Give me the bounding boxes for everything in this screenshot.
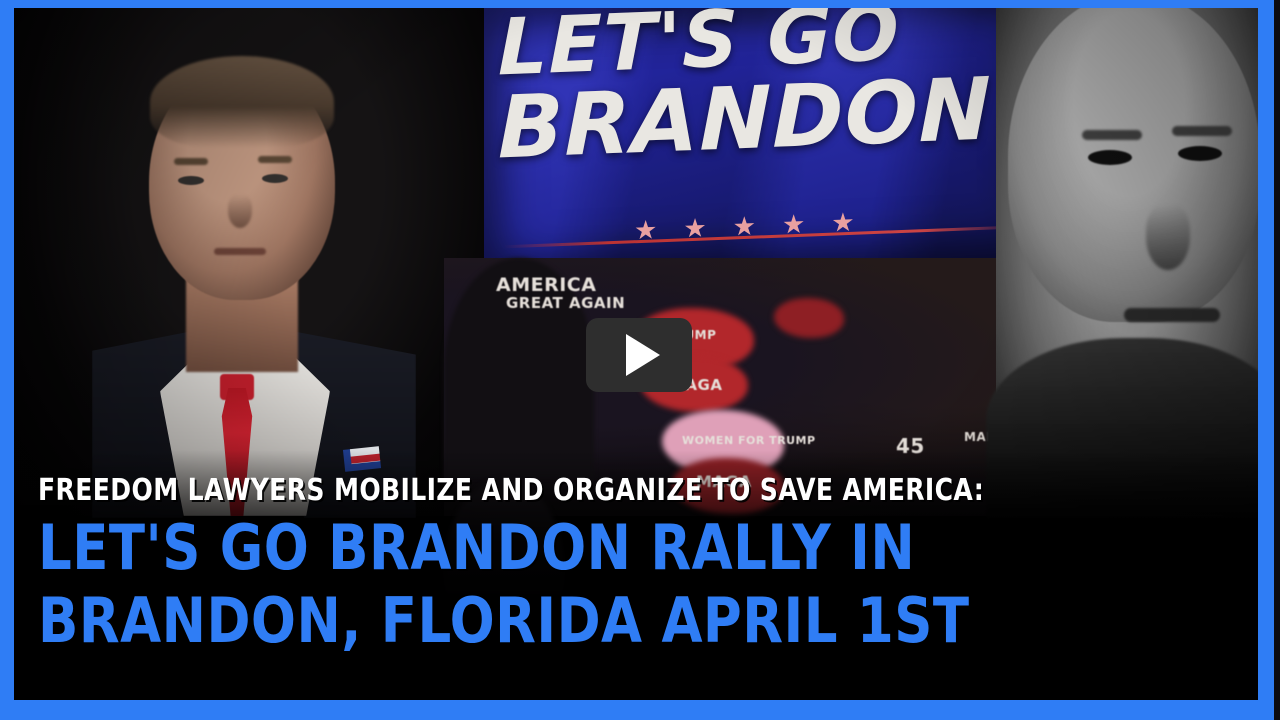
star-icon: ★: [634, 216, 657, 243]
mouth: [214, 248, 266, 255]
video-stage[interactable]: LET'S GO BRANDON ★ ★ ★ ★ ★: [14, 8, 1258, 700]
play-button[interactable]: [586, 318, 692, 392]
banner-line-2: BRANDON: [498, 68, 1058, 169]
eyebrow-right: [1172, 126, 1232, 136]
star-icon: ★: [683, 214, 706, 241]
eye-right: [262, 174, 288, 183]
mouth: [1124, 308, 1220, 322]
portrait-right-grayscale-face: [996, 8, 1258, 516]
eyebrow-left: [1082, 130, 1142, 140]
eye-left: [178, 176, 204, 185]
maga-hat-dark-red: [774, 298, 844, 338]
headline-line-2: BRANDON, FLORIDA APRIL 1ST: [38, 589, 1197, 652]
portrait-left-man-in-suit: [14, 8, 484, 516]
headline-kicker: FREEDOM LAWYERS MOBILIZE AND ORGANIZE TO…: [38, 476, 1173, 506]
american-flag-lapel-pin: [343, 446, 381, 472]
star-icon: ★: [782, 211, 805, 238]
sign-text-45: 45: [896, 434, 925, 458]
sign-text-america: AMERICA: [496, 274, 596, 296]
star-icon: ★: [831, 209, 854, 236]
sign-text-great-again: GREAT AGAIN: [506, 294, 625, 312]
face: [1008, 8, 1258, 322]
nose: [228, 194, 252, 228]
video-player[interactable]: LET'S GO BRANDON ★ ★ ★ ★ ★: [0, 0, 1280, 720]
star-icon: ★: [733, 213, 756, 240]
eyebrow-right: [258, 156, 292, 163]
eyebrow-left: [174, 158, 208, 165]
headline-line-1: LET'S GO BRANDON RALLY IN: [38, 516, 1197, 579]
eye-right: [1178, 146, 1222, 161]
play-triangle-icon: [626, 334, 660, 376]
thumbnail-headline: FREEDOM LAWYERS MOBILIZE AND ORGANIZE TO…: [38, 476, 1258, 652]
lets-go-brandon-banner: LET'S GO BRANDON ★ ★ ★ ★ ★: [484, 8, 1044, 280]
hair: [150, 56, 334, 148]
eye-left: [1088, 150, 1132, 165]
crowd-person: [444, 668, 594, 700]
sign-text-women-for-trump: WOMEN FOR TRUMP: [682, 434, 816, 447]
nose: [1146, 204, 1190, 270]
